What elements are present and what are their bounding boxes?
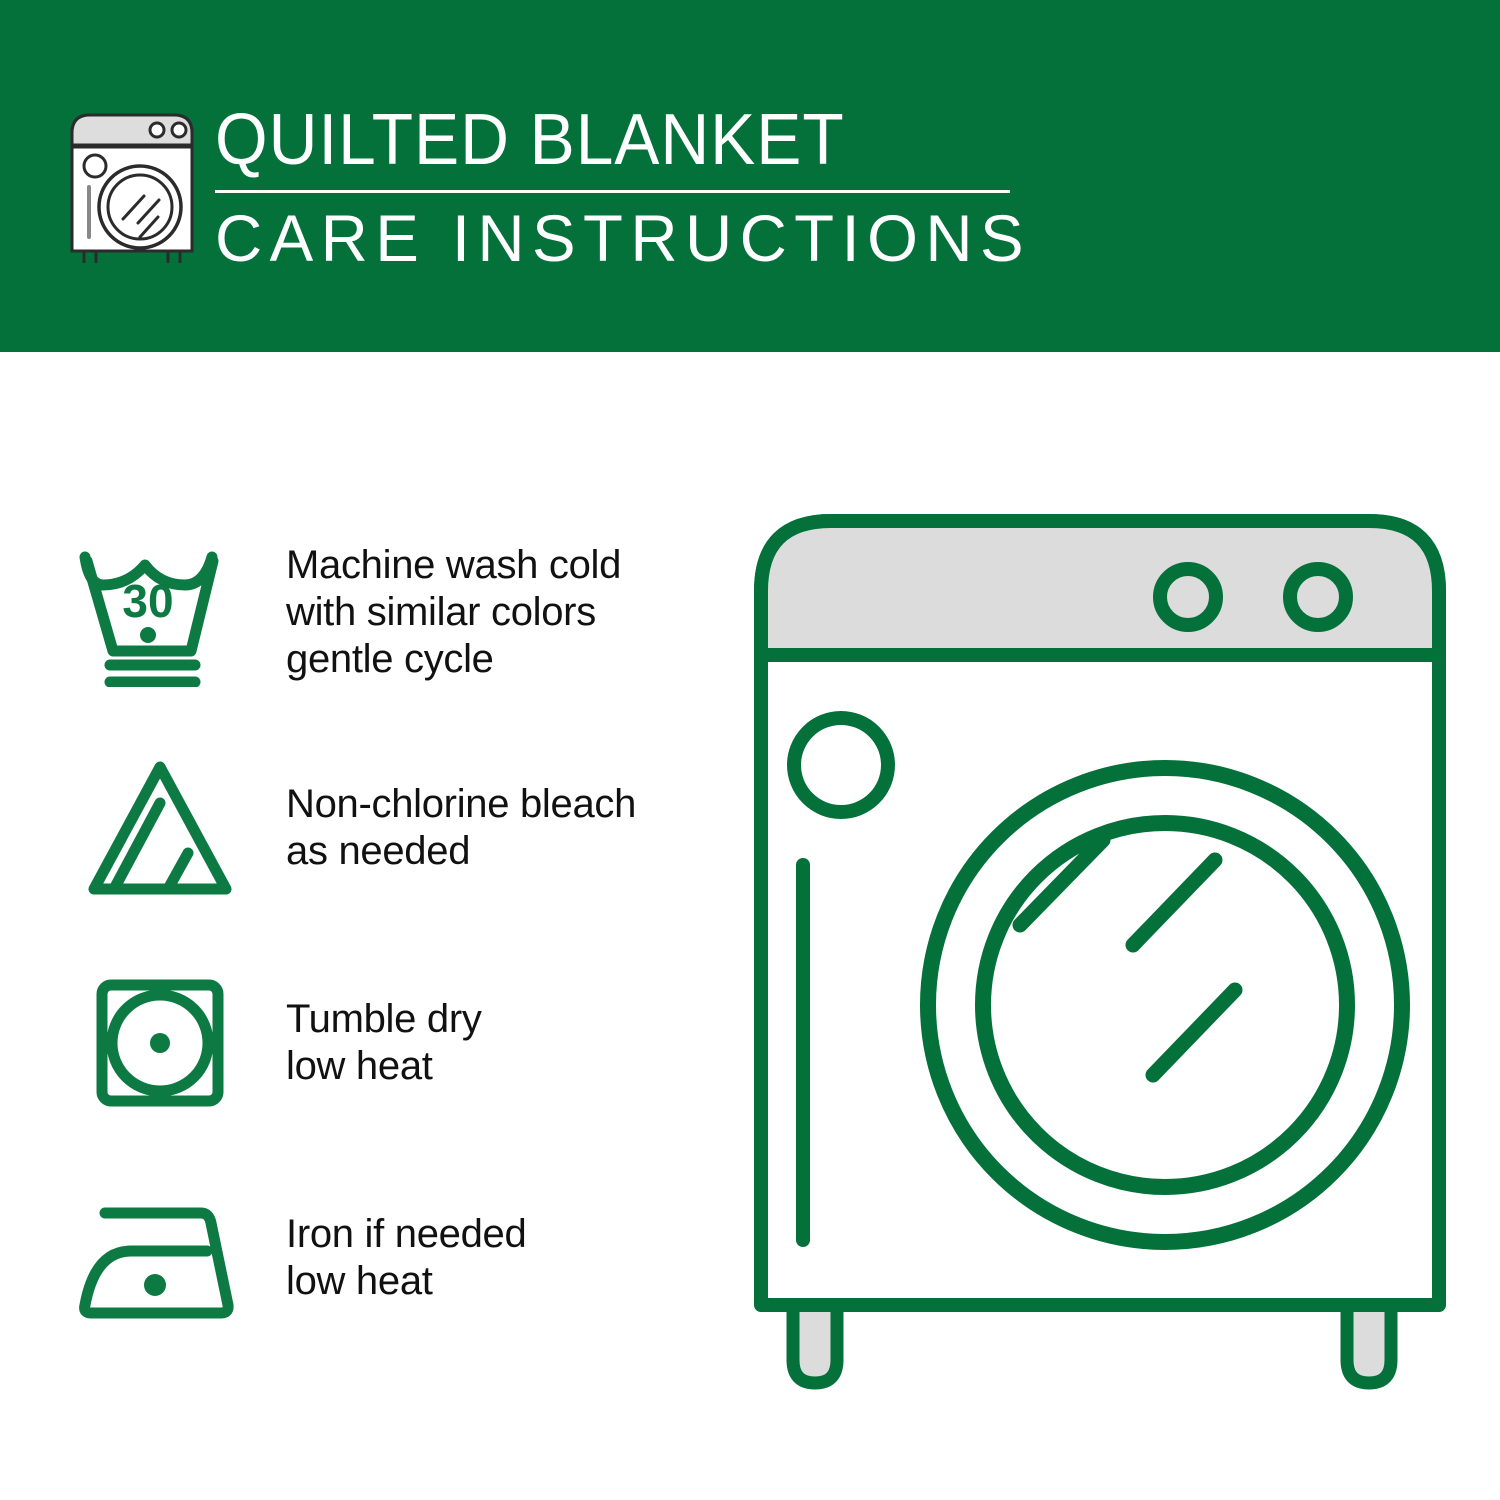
care-row-tumble-dry: Tumble dry low heat — [60, 935, 720, 1150]
washing-machine-illustration — [745, 505, 1455, 1410]
care-label-wash: Machine wash cold with similar colors ge… — [286, 542, 621, 683]
care-symbol-list: 30 Machine wash cold with similar colors… — [60, 505, 720, 1365]
care-row-iron: Iron if needed low heat — [60, 1150, 720, 1365]
care-label-iron: Iron if needed low heat — [286, 1211, 526, 1305]
header-band: QUILTED BLANKET CARE INSTRUCTIONS — [0, 0, 1500, 352]
iron-low-heat-icon — [60, 1193, 260, 1323]
wash-tub-30-gentle-icon: 30 — [60, 539, 260, 687]
page-subtitle: CARE INSTRUCTIONS — [215, 201, 1017, 275]
door-inner-ring — [983, 823, 1347, 1187]
knob-right — [1290, 569, 1346, 625]
page-title: QUILTED BLANKET — [215, 100, 976, 180]
care-label-tumble-dry: Tumble dry low heat — [286, 996, 482, 1090]
header-text-block: QUILTED BLANKET CARE INSTRUCTIONS — [215, 100, 1025, 275]
care-label-bleach: Non-chlorine bleach as needed — [286, 781, 636, 875]
care-instructions-infographic: QUILTED BLANKET CARE INSTRUCTIONS 30 — [0, 0, 1500, 1500]
care-row-wash: 30 Machine wash cold with similar colors… — [60, 505, 720, 720]
title-divider — [215, 190, 1010, 193]
detergent-port — [794, 718, 888, 812]
wash-temperature-value: 30 — [122, 575, 173, 627]
tumble-dry-low-heat-icon — [60, 973, 260, 1113]
knob-left — [1160, 569, 1216, 625]
care-row-bleach: Non-chlorine bleach as needed — [60, 720, 720, 935]
washing-machine-logo-icon — [62, 103, 202, 263]
non-chlorine-bleach-triangle-icon — [60, 753, 260, 903]
